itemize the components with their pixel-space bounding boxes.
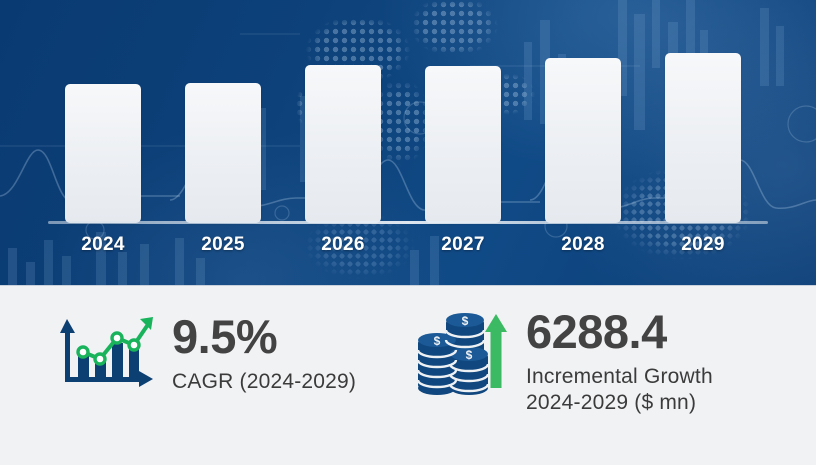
bar-2026 [305,65,381,223]
cagr-value: 9.5% [172,311,356,363]
stat-cagr: 9.5% CAGR (2024-2029) [54,311,356,398]
bar-2029 [665,53,741,223]
bar-2027 [425,66,501,223]
growth-chart-icon-svg [54,311,158,393]
infographic-root: 2024 2025 2026 2027 2028 2029 [0,0,816,464]
bar-2028 [545,58,621,223]
growth-chart-icon [54,311,158,398]
x-axis-label-2024: 2024 [53,234,153,256]
x-axis-label-2025: 2025 [173,234,273,256]
incremental-growth-value: 6288.4 [526,306,713,358]
chart-axis-line [48,221,768,224]
coin-stacks-icon-svg: $ $ $ [412,306,508,398]
incremental-growth-label-line1: Incremental Growth [526,364,713,390]
svg-text:$: $ [466,348,473,362]
bar-2024 [65,84,141,223]
cagr-text-block: 9.5% CAGR (2024-2029) [172,311,356,395]
stat-incremental-growth: $ $ $ 6288.4 Incremental Growth 2024-202… [412,306,713,416]
incremental-growth-text-block: 6288.4 Incremental Growth 2024-2029 ($ m… [526,306,713,416]
coin-stacks-icon: $ $ $ [412,306,508,403]
incremental-growth-label-line2: 2024-2029 ($ mn) [526,390,713,416]
svg-text:$: $ [434,334,441,348]
bar-2025 [185,83,261,223]
x-axis-label-2027: 2027 [413,234,513,256]
chart-panel: 2024 2025 2026 2027 2028 2029 [0,0,816,285]
x-axis-label-2026: 2026 [293,234,393,256]
x-axis-label-2028: 2028 [533,234,633,256]
svg-text:$: $ [462,314,469,328]
x-axis-label-2029: 2029 [653,234,753,256]
cagr-label: CAGR (2024-2029) [172,369,356,395]
stats-panel: 9.5% CAGR (2024-2029) [0,285,816,465]
